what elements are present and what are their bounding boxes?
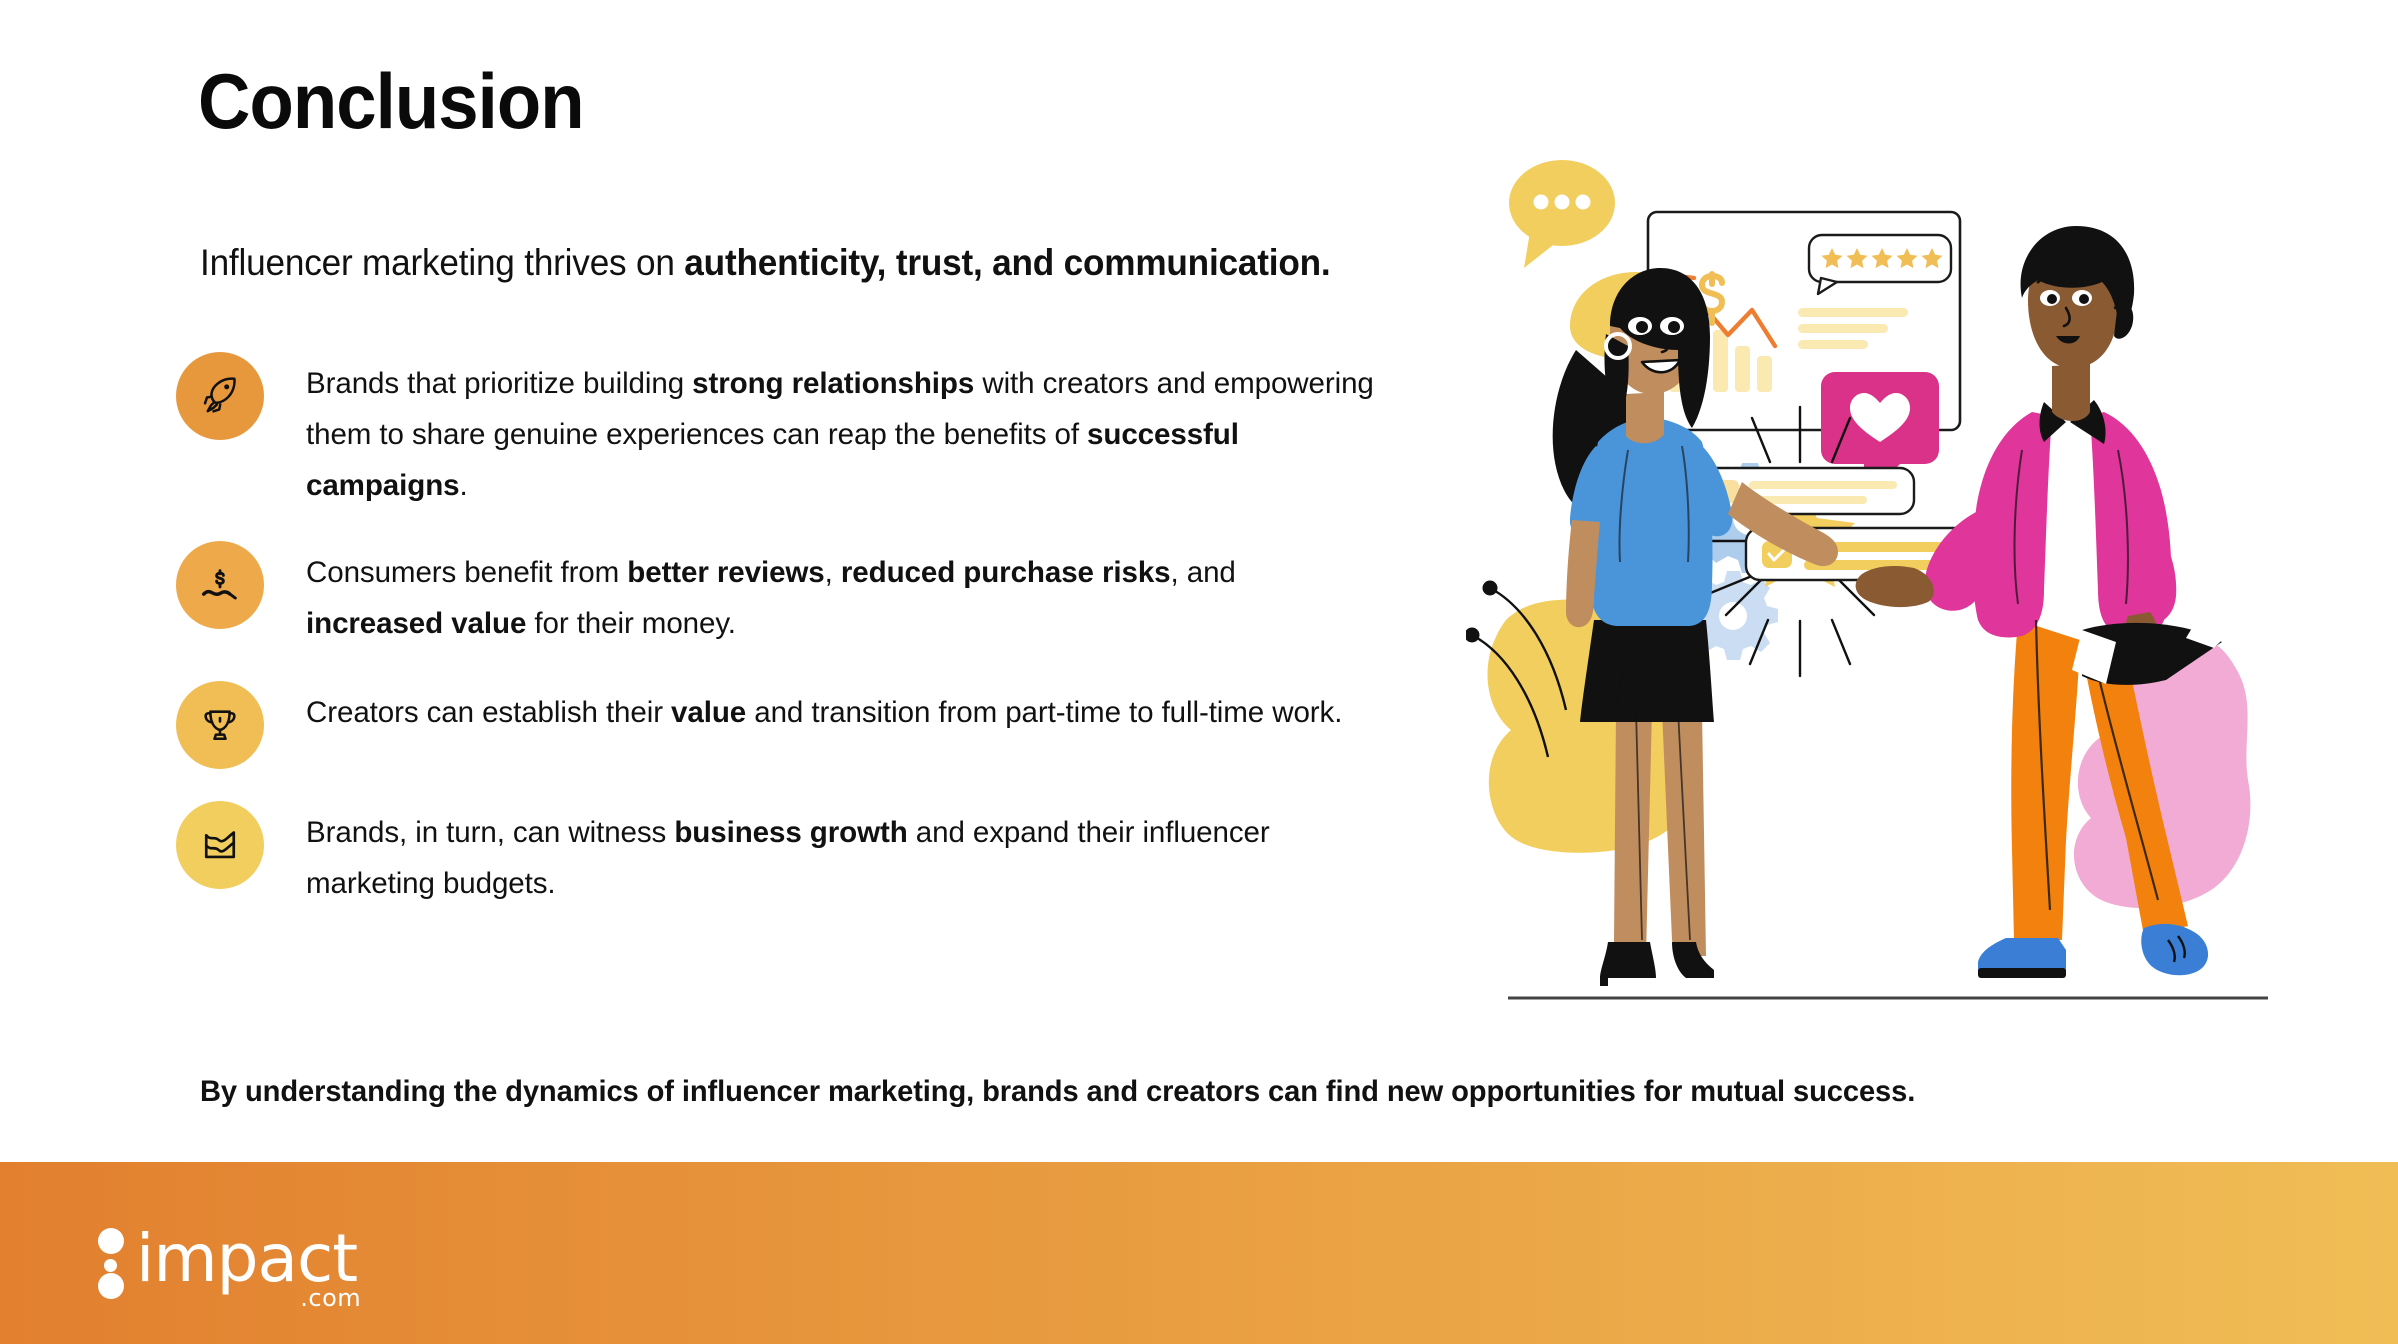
list-item-text: Brands that prioritize building strong r… [306,352,1380,511]
subtitle-plain: Influencer marketing thrives on [200,242,684,283]
money-hand-icon [197,562,243,608]
list-item-text: Consumers benefit from better reviews, r… [306,541,1380,649]
trophy-icon [198,703,242,747]
rocket-icon [197,373,243,419]
subtitle-bold: authenticity, trust, and communication. [684,242,1330,283]
footer-bar [0,1162,2398,1344]
list-item: Brands that prioritize building strong r… [176,352,1396,511]
growth-chart-icon-circle [176,801,264,889]
subtitle: Influencer marketing thrives on authenti… [200,240,1330,286]
logo-wordmark: impact .com [136,1228,357,1290]
handshake-partnership-illustration [1466,150,2316,1030]
list-item: Brands, in turn, can witness business gr… [176,801,1396,909]
logo-com-text: .com [300,1284,361,1312]
page-title: Conclusion [198,62,584,140]
bullet-list: Brands that prioritize building strong r… [176,352,1396,909]
impact-dots-icon [96,1228,130,1290]
rocket-icon-circle [176,352,264,440]
money-hand-icon-circle [176,541,264,629]
list-item: Consumers benefit from better reviews, r… [176,541,1396,649]
closing-statement: By understanding the dynamics of influen… [200,1075,1915,1109]
list-item-text: Creators can establish their value and t… [306,681,1342,738]
list-item: Creators can establish their value and t… [176,681,1396,769]
slide-root: Conclusion Influencer marketing thrives … [0,0,2398,1344]
trophy-icon-circle [176,681,264,769]
list-item-text: Brands, in turn, can witness business gr… [306,801,1380,909]
chat-bubble-icon [1509,160,1615,268]
growth-chart-icon [198,823,242,867]
impact-logo[interactable]: impact .com [96,1228,357,1290]
